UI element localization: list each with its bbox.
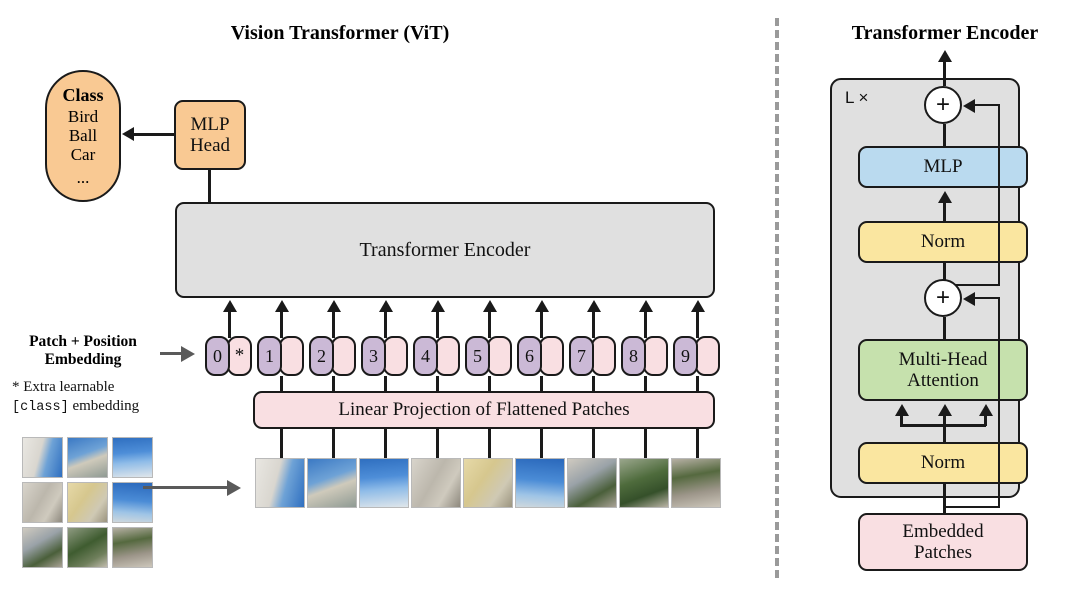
right-panel-title: Transformer Encoder: [820, 22, 1070, 45]
mlp-head-box: MLP Head: [174, 100, 246, 170]
source-patch: [22, 482, 63, 523]
linear-projection-label: Linear Projection of Flattened Patches: [338, 399, 629, 420]
qkv-arrowhead-mid: [938, 404, 952, 416]
token-index-label: 1: [265, 346, 274, 367]
token-arrow-shaft: [332, 312, 335, 338]
token-arrow-shaft: [280, 312, 283, 338]
source-patch: [112, 437, 153, 478]
token-2: 2: [309, 336, 356, 376]
token-9: 9: [673, 336, 720, 376]
class-output-box: Class Bird Ball Car ...: [45, 70, 121, 202]
class-item: Bird: [68, 107, 98, 126]
norm-block-bottom: Norm: [858, 442, 1028, 484]
mlp-to-class-line: [134, 133, 174, 136]
residual-1-top: [975, 297, 1000, 300]
class-token-code: [class]: [12, 400, 69, 415]
token-arrow-head: [587, 300, 601, 312]
patch-up-line: [592, 429, 595, 459]
token-index-pill: 8: [621, 336, 646, 376]
token-index-label: 2: [317, 346, 326, 367]
left-panel-title: Vision Transformer (ViT): [180, 22, 500, 45]
token-embedding-pill: [695, 336, 720, 376]
token-embedding-pill: [331, 336, 356, 376]
token-8: 8: [621, 336, 668, 376]
encoder-output-arrowhead: [938, 50, 952, 62]
token-index-label: 8: [629, 346, 638, 367]
residual-2-top: [975, 104, 1000, 107]
patch-up-line: [488, 429, 491, 459]
patch-up-line: [384, 429, 387, 459]
token-arrow-head: [535, 300, 549, 312]
patch-sequence-item: [411, 458, 461, 508]
patch-position-line1: Patch + Position: [8, 333, 158, 351]
token-embedding-pill: [643, 336, 668, 376]
residual-1-right: [998, 298, 1001, 507]
token-embedding-pill: [487, 336, 512, 376]
source-image-grid: [22, 437, 153, 568]
token-arrow-shaft: [436, 312, 439, 338]
token-embedding-pill: [435, 336, 460, 376]
token-index-pill: 1: [257, 336, 282, 376]
token-index-pill: 2: [309, 336, 334, 376]
token-index-pill: 9: [673, 336, 698, 376]
mlp-label: MLP: [923, 156, 962, 177]
footnote-line-2-tail: embedding: [69, 398, 139, 414]
residual-add-top: +: [924, 86, 962, 124]
token-index-label: 0: [213, 346, 222, 367]
residual-1-arrowhead: [963, 292, 975, 306]
token-extra-marker: *: [235, 350, 245, 361]
footnote-line-1: * Extra learnable: [12, 378, 187, 397]
patch-sequence-item: [359, 458, 409, 508]
token-arrow-shaft: [644, 312, 647, 338]
token-arrow-head: [379, 300, 393, 312]
multi-head-attention-block: Multi-Head Attention: [858, 339, 1028, 401]
grid-to-sequence-line: [143, 486, 228, 489]
source-patch: [22, 437, 63, 478]
patch-sequence-item: [307, 458, 357, 508]
patch-up-line: [540, 429, 543, 459]
vit-diagram: Vision Transformer (ViT) Class Bird Ball…: [0, 0, 1080, 593]
patch-up-line: [280, 429, 283, 459]
token-arrow-head: [483, 300, 497, 312]
patch-position-embedding-label: Patch + Position Embedding: [8, 333, 158, 368]
add-symbol: +: [936, 93, 950, 117]
source-patch: [112, 527, 153, 568]
token-arrow-shaft: [228, 312, 231, 338]
encoder-block-container: [830, 78, 1020, 498]
norm-top-label: Norm: [921, 231, 965, 252]
token-6: 6: [517, 336, 564, 376]
footnote-line-2: [class] embedding: [12, 397, 187, 417]
class-item: Car: [71, 145, 96, 164]
token-index-pill: 7: [569, 336, 594, 376]
attention-label-line1: Multi-Head: [899, 349, 988, 370]
patch-sequence-item: [515, 458, 565, 508]
token-index-pill: 6: [517, 336, 542, 376]
patch-sequence-item: [619, 458, 669, 508]
norm-block-top: Norm: [858, 221, 1028, 263]
mlp-head-to-encoder-line: [208, 170, 211, 204]
embedded-patches-line2: Patches: [914, 542, 972, 563]
token-index-label: 4: [421, 346, 430, 367]
patch-position-line2: Embedding: [8, 351, 158, 369]
token-arrow-shaft: [592, 312, 595, 338]
token-arrow-head: [223, 300, 237, 312]
token-arrow-head: [639, 300, 653, 312]
repeat-count-label: L ×: [845, 88, 868, 108]
token-arrow-shaft: [488, 312, 491, 338]
token-0: 0 *: [205, 336, 252, 376]
source-patch: [22, 527, 63, 568]
mlp-head-label-line2: Head: [190, 135, 230, 156]
patch-up-line: [696, 429, 699, 459]
embedded-patches-line1: Embedded: [902, 521, 983, 542]
token-4: 4: [413, 336, 460, 376]
token-5: 5: [465, 336, 512, 376]
class-token-footnote: * Extra learnable [class] embedding: [12, 378, 187, 417]
norm-bottom-label: Norm: [921, 452, 965, 473]
token-index-label: 7: [577, 346, 586, 367]
token-index-pill: 4: [413, 336, 438, 376]
source-patch: [67, 437, 108, 478]
class-item: Ball: [69, 126, 97, 145]
patch-sequence-item: [671, 458, 721, 508]
class-item-ellipsis: ...: [77, 169, 90, 188]
add-symbol: +: [936, 286, 950, 310]
token-index-label: 9: [681, 346, 690, 367]
token-3: 3: [361, 336, 408, 376]
token-index-pill: 5: [465, 336, 490, 376]
patch-up-line: [332, 429, 335, 459]
token-embedding-pill: [279, 336, 304, 376]
norm-top-to-mlp-arrowhead: [938, 191, 952, 203]
mlp-to-class-arrowhead: [122, 127, 134, 141]
patch-sequence-item: [463, 458, 513, 508]
encoder-output-line: [943, 62, 946, 86]
embedded-patches-to-encoder-line: [943, 484, 946, 516]
token-arrow-head: [431, 300, 445, 312]
qkv-arrowhead-left: [895, 404, 909, 416]
residual-1-bottom: [943, 506, 1000, 509]
residual-2-right: [998, 105, 1001, 285]
token-index-label: 3: [369, 346, 378, 367]
token-embedding-pill: [539, 336, 564, 376]
qkv-shaft-right: [984, 416, 987, 426]
panel-divider: [775, 18, 779, 578]
residual-2-arrowhead: [963, 99, 975, 113]
token-embedding-pill: *: [227, 336, 252, 376]
token-arrow-shaft: [696, 312, 699, 338]
embedded-patches-block: Embedded Patches: [858, 513, 1028, 571]
token-arrow-head: [327, 300, 341, 312]
qkv-center-stem: [943, 424, 946, 442]
token-arrow-head: [691, 300, 705, 312]
token-index-label: 6: [525, 346, 534, 367]
token-embedding-pill: [591, 336, 616, 376]
patch-up-line: [436, 429, 439, 459]
token-index-pill: 3: [361, 336, 386, 376]
mlp-to-add-line: [943, 124, 946, 146]
patch-sequence-item: [255, 458, 305, 508]
attention-to-add-line: [943, 317, 946, 339]
transformer-encoder-box: Transformer Encoder: [175, 202, 715, 298]
attention-label-line2: Attention: [907, 370, 979, 391]
token-arrow-shaft: [384, 312, 387, 338]
norm-top-to-mlp-shaft: [943, 203, 946, 221]
embedding-label-arrowhead: [181, 346, 195, 362]
embedding-label-arrow-line: [160, 352, 182, 355]
transformer-encoder-label: Transformer Encoder: [360, 239, 531, 261]
token-arrow-shaft: [540, 312, 543, 338]
mlp-head-label-line1: MLP: [190, 114, 229, 135]
patch-sequence-item: [567, 458, 617, 508]
linear-projection-box: Linear Projection of Flattened Patches: [253, 391, 715, 429]
token-index-label: 5: [473, 346, 482, 367]
qkv-arrowhead-right: [979, 404, 993, 416]
mlp-block: MLP: [858, 146, 1028, 188]
qkv-shaft-left: [900, 416, 903, 426]
grid-to-sequence-arrowhead: [227, 480, 241, 496]
token-7: 7: [569, 336, 616, 376]
residual-add-bottom: +: [924, 279, 962, 317]
class-heading: Class: [62, 85, 103, 106]
token-1: 1: [257, 336, 304, 376]
source-patch: [67, 527, 108, 568]
source-patch: [67, 482, 108, 523]
token-arrow-head: [275, 300, 289, 312]
token-embedding-pill: [383, 336, 408, 376]
patch-up-line: [644, 429, 647, 459]
token-index-pill: 0: [205, 336, 230, 376]
